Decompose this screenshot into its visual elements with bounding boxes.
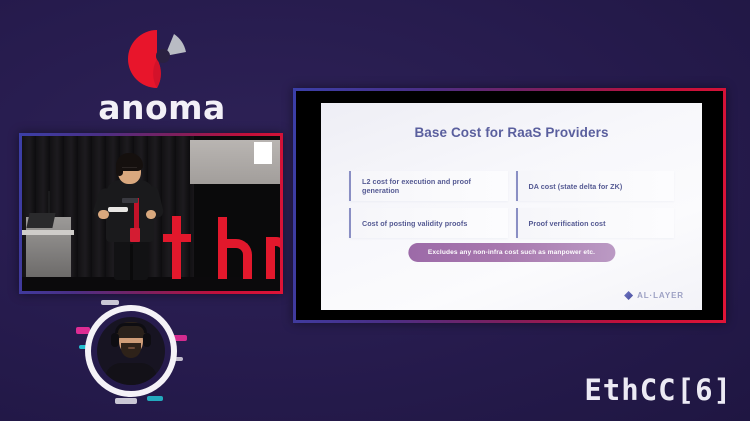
avatar-mouth xyxy=(128,347,135,349)
cost-card-da-cost[interactable]: DA cost (state delta for ZK) xyxy=(516,171,675,201)
stage-scene xyxy=(22,136,280,291)
avatar-shoulders xyxy=(105,363,157,385)
podium-top xyxy=(22,230,74,235)
headphones-avatar-icon xyxy=(97,317,165,385)
speaker-badge xyxy=(130,228,140,242)
projection-highlight xyxy=(254,142,272,164)
stage-floor xyxy=(22,277,280,291)
speaker-left-hand xyxy=(98,210,109,219)
anoma-brand-logo: anoma xyxy=(82,26,242,126)
avatar-headphone-right xyxy=(143,333,151,347)
altlayer-diamond-icon xyxy=(624,291,633,300)
exclusion-note-pill: Excludes any non-infra cost such as manp… xyxy=(408,243,615,262)
cost-card-label: Proof verification cost xyxy=(529,219,606,228)
broadcast-stage: anoma xyxy=(0,0,750,421)
speaker-avatar[interactable] xyxy=(85,305,177,397)
altlayer-wordmark: AL·LAYER xyxy=(637,291,684,300)
conference-speaker-video[interactable] xyxy=(19,133,283,294)
glitch-shard xyxy=(101,300,119,305)
avatar-headphone-left xyxy=(111,333,119,347)
backdrop-letter-h xyxy=(218,217,227,279)
presentation-slide[interactable]: Base Cost for RaaS Providers L2 cost for… xyxy=(293,88,726,323)
microphone-stand xyxy=(48,191,50,213)
cost-card-label: L2 cost for execution and proof generati… xyxy=(362,177,508,195)
ethcc-watermark: EthCC[6] xyxy=(584,373,732,407)
cost-card-label: DA cost (state delta for ZK) xyxy=(529,182,623,191)
podium-laptop xyxy=(26,213,55,228)
cost-card-row: Cost of posting validity proofs Proof ve… xyxy=(349,208,674,238)
altlayer-logo: AL·LAYER xyxy=(624,291,684,300)
cost-card-row: L2 cost for execution and proof generati… xyxy=(349,171,674,201)
cost-card-proof-verification[interactable]: Proof verification cost xyxy=(516,208,675,238)
speaker-leg-split xyxy=(130,244,133,280)
speaker-shirt-logo xyxy=(122,198,138,203)
glitch-shard xyxy=(147,396,163,401)
speaker-right-hand xyxy=(146,210,156,219)
speaker-glasses xyxy=(122,167,137,172)
backdrop-letter-n xyxy=(266,237,275,279)
cost-card-posting-proofs[interactable]: Cost of posting validity proofs xyxy=(349,208,508,238)
slide-canvas: Base Cost for RaaS Providers L2 cost for… xyxy=(321,103,702,310)
anoma-wordmark: anoma xyxy=(82,88,242,127)
cost-card-label: Cost of posting validity proofs xyxy=(362,219,467,228)
presentation-clicker xyxy=(108,207,128,212)
avatar-beard xyxy=(121,343,141,358)
backdrop-letter-t xyxy=(172,216,181,279)
cost-card-l2-execution[interactable]: L2 cost for execution and proof generati… xyxy=(349,171,508,201)
cost-card-grid: L2 cost for execution and proof generati… xyxy=(349,171,674,245)
anoma-ring-icon xyxy=(118,26,196,92)
slide-title: Base Cost for RaaS Providers xyxy=(321,125,702,140)
avatar-headphone-band xyxy=(115,323,147,333)
glitch-shard xyxy=(115,398,137,404)
